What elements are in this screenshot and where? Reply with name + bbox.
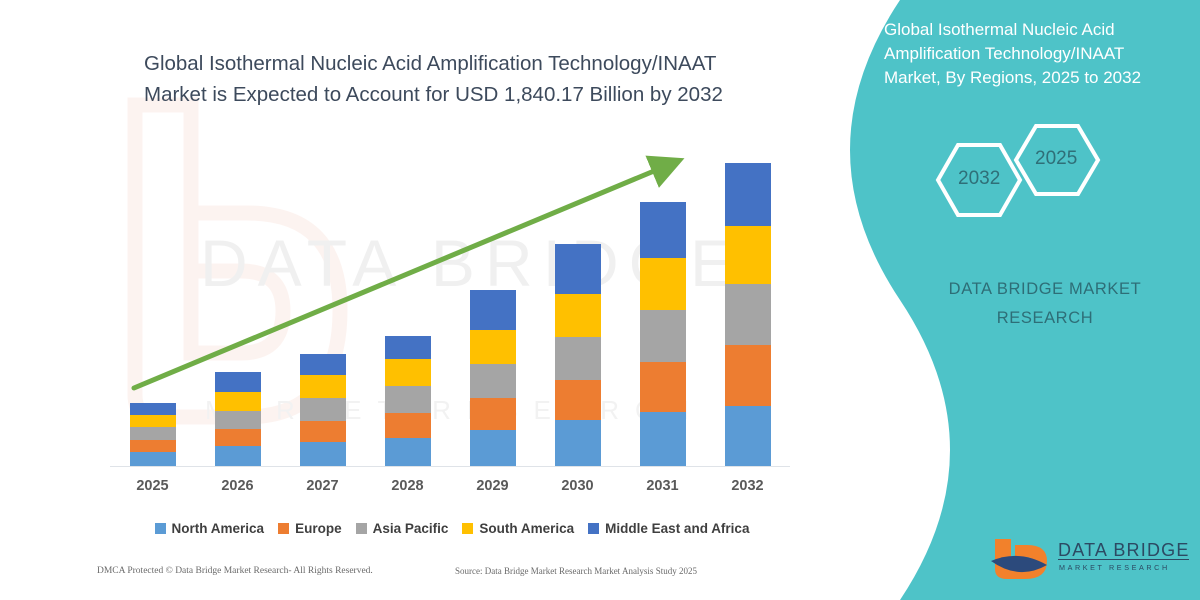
bar-segment: [130, 427, 176, 440]
bar-segment: [385, 336, 431, 359]
x-axis-label: 2031: [628, 478, 698, 494]
bar-segment: [215, 392, 261, 411]
bar-segment: [470, 330, 516, 364]
hexagon-2025-label: 2025: [1035, 148, 1077, 170]
logo-tagline: MARKET RESEARCH: [1059, 563, 1170, 572]
year-hexagons: 2032 2025: [920, 118, 1120, 238]
x-axis-label: 2028: [373, 478, 443, 494]
legend-swatch: [588, 523, 599, 534]
bar-segment: [215, 411, 261, 429]
bar-segment: [215, 372, 261, 392]
bar-segment: [470, 398, 516, 430]
bar-segment: [470, 290, 516, 330]
bar-segment: [130, 452, 176, 466]
legend-swatch: [462, 523, 473, 534]
logo-wordmark: DATA BRIDGE: [1058, 540, 1190, 561]
page-title: Global Isothermal Nucleic Acid Amplifica…: [144, 48, 784, 110]
bar-column: [385, 336, 431, 466]
legend-swatch: [278, 523, 289, 534]
bar-segment: [725, 226, 771, 284]
legend-label: Europe: [295, 521, 342, 536]
bar-segment: [725, 345, 771, 406]
bar-segment: [640, 362, 686, 412]
bar-segment: [555, 380, 601, 420]
legend-label: Middle East and Africa: [605, 521, 749, 536]
bar-column: [130, 403, 176, 466]
bar-column: [300, 354, 346, 466]
legend-item[interactable]: North America: [155, 521, 265, 536]
bar-segment: [385, 386, 431, 413]
bar-segment: [555, 294, 601, 337]
bar-segment: [385, 413, 431, 438]
bar-segment: [725, 284, 771, 345]
x-axis-line: [110, 466, 790, 467]
footer-copyright: DMCA Protected © Data Bridge Market Rese…: [97, 566, 373, 576]
panel-brand: DATA BRIDGE MARKET RESEARCH: [900, 275, 1190, 333]
bar-segment: [555, 420, 601, 466]
panel-title: Global Isothermal Nucleic Acid Amplifica…: [884, 18, 1184, 90]
panel-brand-line1: DATA BRIDGE MARKET: [900, 275, 1190, 304]
bar-segment: [640, 202, 686, 258]
legend-item[interactable]: Middle East and Africa: [588, 521, 749, 536]
bar-segment: [640, 310, 686, 362]
bar-segment: [130, 415, 176, 427]
x-axis-label: 2032: [713, 478, 783, 494]
legend-label: Asia Pacific: [373, 521, 449, 536]
bar-segment: [470, 430, 516, 466]
bar-segment: [470, 364, 516, 398]
stacked-bar-chart: [110, 140, 790, 466]
bar-segment: [555, 244, 601, 294]
bar-segment: [300, 442, 346, 466]
x-axis-label: 2027: [288, 478, 358, 494]
bar-column: [725, 163, 771, 466]
legend-label: North America: [172, 521, 265, 536]
bar-segment: [130, 403, 176, 415]
x-axis-labels: 20252026202720282029203020312032: [110, 478, 790, 502]
bar-segment: [640, 258, 686, 310]
bar-column: [640, 202, 686, 466]
logo-divider: [1058, 559, 1189, 560]
bar-column: [470, 290, 516, 466]
bar-segment: [385, 359, 431, 386]
bar-segment: [215, 429, 261, 446]
hexagon-2032-label: 2032: [958, 168, 1000, 190]
bar-segment: [725, 163, 771, 226]
bar-segment: [300, 375, 346, 398]
chart-legend: North AmericaEuropeAsia PacificSouth Ame…: [112, 518, 792, 538]
x-axis-label: 2029: [458, 478, 528, 494]
x-axis-label: 2030: [543, 478, 613, 494]
bar-column: [555, 244, 601, 466]
legend-item[interactable]: Europe: [278, 521, 342, 536]
legend-item[interactable]: South America: [462, 521, 574, 536]
bar-segment: [300, 354, 346, 375]
infographic-root: DATA BRIDGE MARKET RESEARCH Global Isoth…: [0, 0, 1200, 600]
footer-source: Source: Data Bridge Market Research Mark…: [455, 566, 697, 576]
x-axis-label: 2025: [118, 478, 188, 494]
bar-segment: [300, 398, 346, 421]
footer: DMCA Protected © Data Bridge Market Rese…: [0, 566, 800, 590]
legend-swatch: [155, 523, 166, 534]
panel-brand-line2: RESEARCH: [900, 304, 1190, 333]
bar-segment: [215, 446, 261, 466]
bar-segment: [640, 412, 686, 466]
bar-column: [215, 372, 261, 466]
bar-segment: [385, 438, 431, 466]
bar-segment: [555, 337, 601, 380]
x-axis-label: 2026: [203, 478, 273, 494]
bar-segment: [130, 440, 176, 452]
legend-label: South America: [479, 521, 574, 536]
legend-item[interactable]: Asia Pacific: [356, 521, 449, 536]
bar-segment: [300, 421, 346, 442]
bar-segment: [725, 406, 771, 466]
legend-swatch: [356, 523, 367, 534]
